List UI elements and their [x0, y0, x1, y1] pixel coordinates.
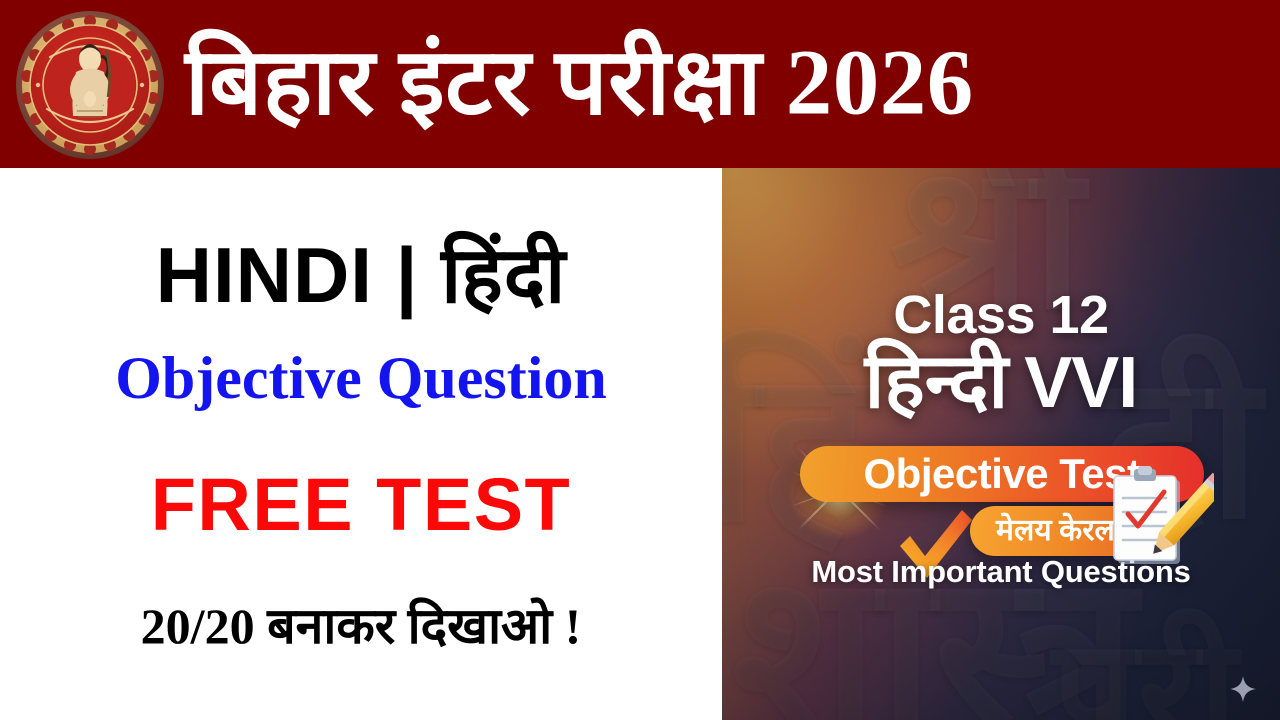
left-content-panel: HINDI | हिंदी Objective Question FREE TE…	[0, 168, 722, 720]
poster-root: बिहार इंटर परीक्षा 2026 HINDI | हिंदी Ob…	[0, 0, 1280, 720]
sparkle-star-icon	[1230, 676, 1256, 702]
hindi-subject-label: हिन्दी	[865, 344, 1009, 420]
subject-vvi-row: हिन्दी VVI	[722, 344, 1280, 420]
thumbnail-image-panel: श्री हिं दी शास्त्र परी Class 12 हिन्दी …	[722, 168, 1280, 720]
objective-question-label: Objective Question	[115, 347, 607, 410]
page-title: बिहार इंटर परीक्षा 2026	[185, 37, 974, 132]
bseb-seal-logo-icon	[14, 9, 166, 161]
tagline-label: 20/20 बनाकर दिखाओ !	[141, 600, 582, 653]
subject-heading: HINDI | हिंदी	[156, 235, 567, 317]
header-banner: बिहार इंटर परीक्षा 2026	[0, 0, 1280, 168]
bseb-seal-logo	[14, 9, 166, 161]
free-test-label: FREE TEST	[151, 466, 572, 544]
clipboard-pencil-icon	[1096, 464, 1214, 576]
class-label: Class 12	[722, 284, 1280, 346]
vvi-label: VVI	[1024, 347, 1137, 419]
